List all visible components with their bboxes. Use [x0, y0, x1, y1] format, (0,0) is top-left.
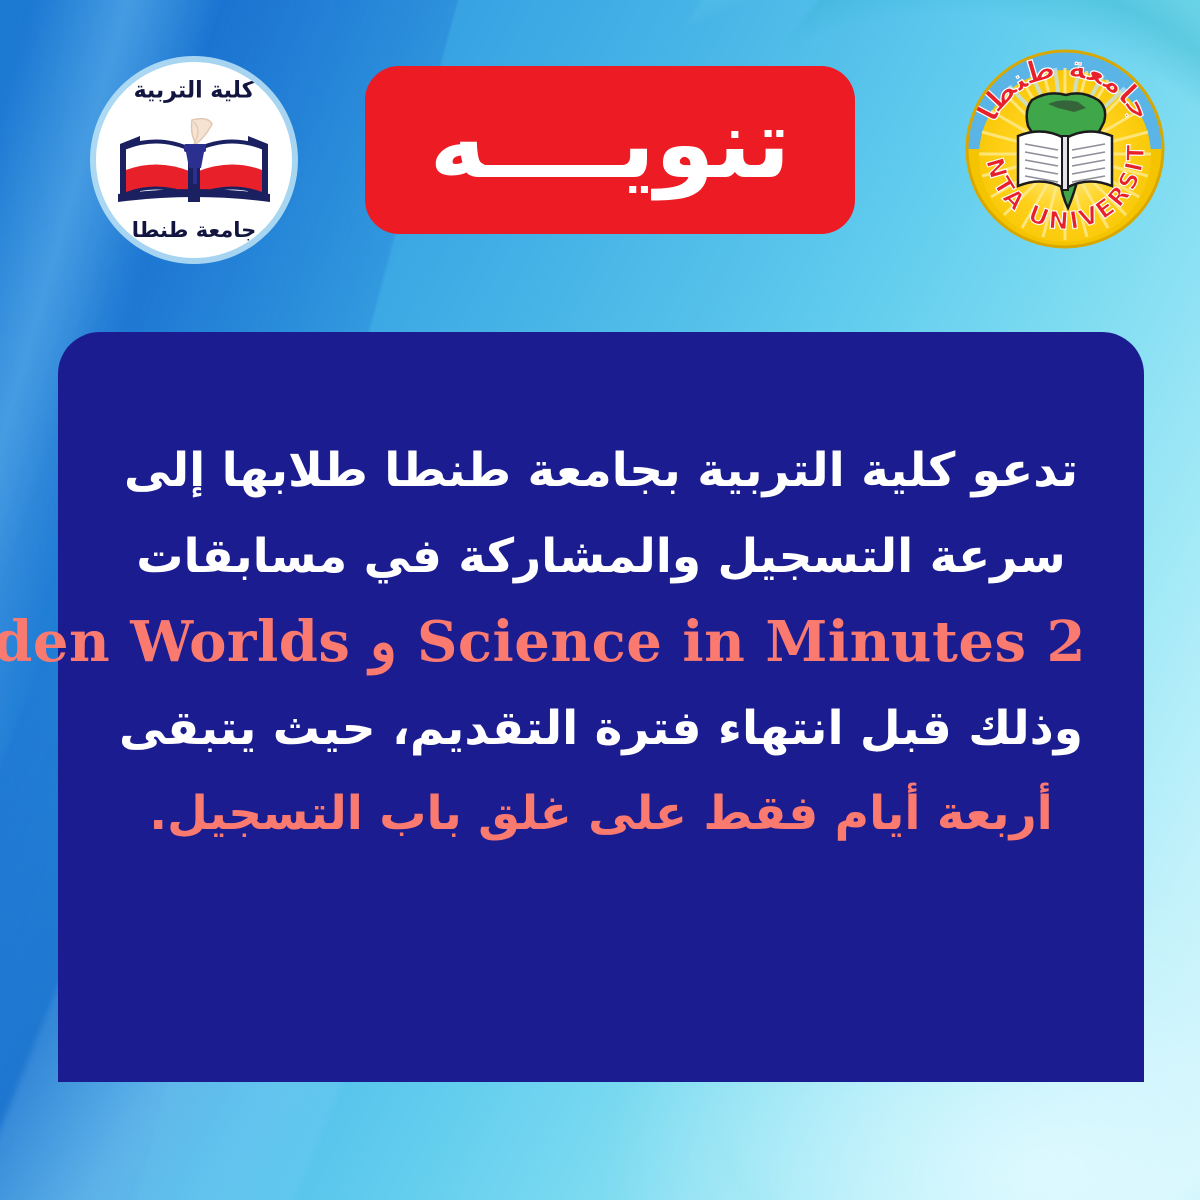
open-book-inkwell-icon [114, 114, 274, 206]
announcement-line-3-competitions: Science in Minutes 2 و Hidden Worlds [116, 599, 1086, 686]
notice-banner: تنويــــه [365, 66, 855, 234]
tanta-university-seal-icon: جامعة طنطا TANTA UNIVERSITY [962, 46, 1168, 252]
announcement-panel: تدعو كلية التربية بجامعة طنطا طلابها إلى… [58, 332, 1144, 1082]
announcement-poster: كلية التربية [0, 0, 1200, 1200]
tanta-university-seal: جامعة طنطا TANTA UNIVERSITY [962, 46, 1168, 252]
announcement-line-4: وذلك قبل انتهاء فترة التقديم، حيث يتبقى [116, 686, 1086, 772]
faculty-logo-bottom-text: جامعة طنطا [96, 218, 292, 242]
announcement-line-5-deadline: أربعة أيام فقط على غلق باب التسجيل. [116, 771, 1086, 857]
poster-header: كلية التربية [0, 0, 1200, 300]
announcement-line-1: تدعو كلية التربية بجامعة طنطا طلابها إلى [116, 428, 1086, 514]
notice-banner-label: تنويــــه [430, 96, 791, 192]
announcement-line-2: سرعة التسجيل والمشاركة في مسابقات [116, 514, 1086, 600]
faculty-of-education-logo: كلية التربية [96, 62, 292, 258]
faculty-logo-top-text: كلية التربية [96, 77, 292, 103]
